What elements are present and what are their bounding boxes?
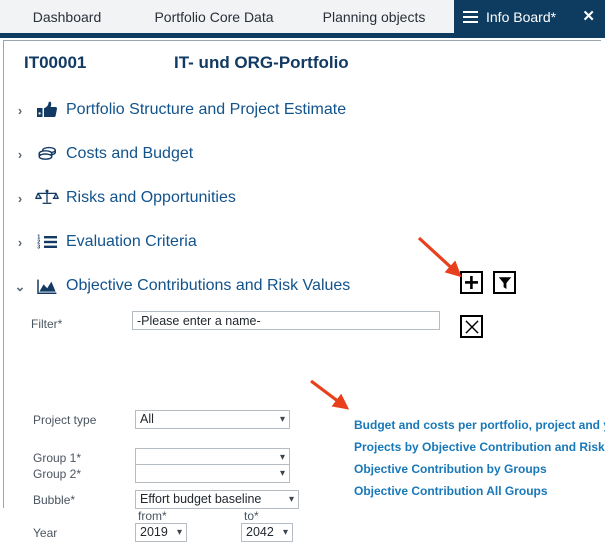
scales-balance-icon	[30, 188, 64, 208]
project-type-label: Project type	[33, 413, 96, 427]
chevron-down-icon: ▾	[289, 495, 294, 505]
filter-button[interactable]	[493, 271, 516, 294]
tab-label: Info Board*	[486, 9, 556, 25]
tab-info-board[interactable]: Info Board* ✕	[454, 0, 605, 33]
link-budget-and-costs[interactable]: Budget and costs per portfolio, project …	[354, 414, 605, 436]
portfolio-id: IT00001	[24, 53, 174, 73]
tab-bar-underline	[0, 33, 605, 38]
section-label: Objective Contributions and Risk Values	[64, 277, 350, 295]
plus-icon	[464, 275, 479, 290]
close-x-icon	[465, 320, 479, 334]
bubble-select[interactable]: Effort budget baseline ▾	[135, 490, 299, 509]
close-icon[interactable]: ✕	[576, 9, 595, 24]
tab-dashboard[interactable]: Dashboard	[0, 0, 134, 33]
group1-label: Group 1*	[33, 451, 81, 465]
tab-planning-objects[interactable]: Planning objects	[294, 0, 454, 33]
chevron-down-icon[interactable]: ⌄	[10, 280, 30, 293]
add-button[interactable]	[460, 271, 483, 294]
page-title: IT00001 IT- und ORG-Portfolio	[24, 53, 349, 73]
project-type-select[interactable]: All ▾	[135, 410, 290, 429]
chevron-right-icon[interactable]: ›	[10, 148, 30, 161]
area-chart-icon	[30, 276, 64, 296]
bubble-value: Effort budget baseline	[140, 492, 261, 506]
clear-filter-button[interactable]	[460, 315, 483, 338]
year-from-label: from*	[138, 509, 167, 523]
report-links: Budget and costs per portfolio, project …	[354, 414, 605, 502]
section-label: Risks and Opportunities	[64, 189, 236, 207]
group2-label: Group 2*	[33, 467, 81, 481]
tab-bar: Dashboard Portfolio Core Data Planning o…	[0, 0, 605, 33]
chevron-right-icon[interactable]: ›	[10, 192, 30, 205]
section-costs-and-budget[interactable]: › Costs and Budget	[10, 137, 193, 171]
thumbs-up-icon	[30, 100, 64, 120]
chevron-down-icon: ▾	[280, 469, 285, 479]
section-label: Costs and Budget	[64, 145, 193, 163]
chevron-down-icon: ▾	[177, 528, 182, 538]
bubble-label: Bubble*	[33, 493, 75, 507]
tab-portfolio-core-data[interactable]: Portfolio Core Data	[134, 0, 294, 33]
filter-label: Filter*	[31, 317, 62, 331]
tab-label: Dashboard	[33, 9, 102, 25]
link-projects-by-objective-contribution[interactable]: Projects by Objective Contribution and R…	[354, 436, 605, 458]
coins-stack-icon	[30, 144, 64, 164]
year-label: Year	[33, 526, 57, 540]
section-risks-and-opportunities[interactable]: › Risks and Opportunities	[10, 181, 236, 215]
link-objective-contribution-all-groups[interactable]: Objective Contribution All Groups	[354, 480, 605, 502]
svg-text:3: 3	[37, 244, 40, 250]
content-panel: IT00001 IT- und ORG-Portfolio › Portfoli…	[3, 40, 601, 508]
hamburger-icon[interactable]	[463, 11, 478, 23]
year-to-value: 2042	[246, 525, 274, 539]
year-to-label: to*	[244, 509, 259, 523]
chevron-down-icon: ▾	[280, 453, 285, 463]
chevron-right-icon[interactable]: ›	[10, 104, 30, 117]
section-objective-contributions-and-risk-values[interactable]: ⌄ Objective Contributions and Risk Value…	[10, 269, 350, 303]
chevron-right-icon[interactable]: ›	[10, 236, 30, 249]
numbered-list-icon: 1 2 3	[30, 232, 64, 252]
section-evaluation-criteria[interactable]: › 1 2 3 Evaluation Criteria	[10, 225, 197, 259]
year-from-select[interactable]: 2019 ▾	[135, 523, 187, 542]
group2-select[interactable]: ▾	[135, 464, 290, 483]
project-type-value: All	[140, 412, 154, 426]
year-to-select[interactable]: 2042 ▾	[241, 523, 293, 542]
section-label: Portfolio Structure and Project Estimate	[64, 101, 346, 119]
year-from-value: 2019	[140, 525, 168, 539]
tab-label: Portfolio Core Data	[154, 9, 273, 25]
link-objective-contribution-by-groups[interactable]: Objective Contribution by Groups	[354, 458, 605, 480]
portfolio-name: IT- und ORG-Portfolio	[174, 53, 349, 73]
filter-input[interactable]	[132, 311, 440, 330]
section-label: Evaluation Criteria	[64, 233, 197, 251]
tab-label: Planning objects	[323, 9, 426, 25]
funnel-icon	[498, 276, 512, 290]
chevron-down-icon: ▾	[283, 528, 288, 538]
chevron-down-icon: ▾	[280, 415, 285, 425]
section-portfolio-structure[interactable]: › Portfolio Structure and Project Estima…	[10, 93, 346, 127]
